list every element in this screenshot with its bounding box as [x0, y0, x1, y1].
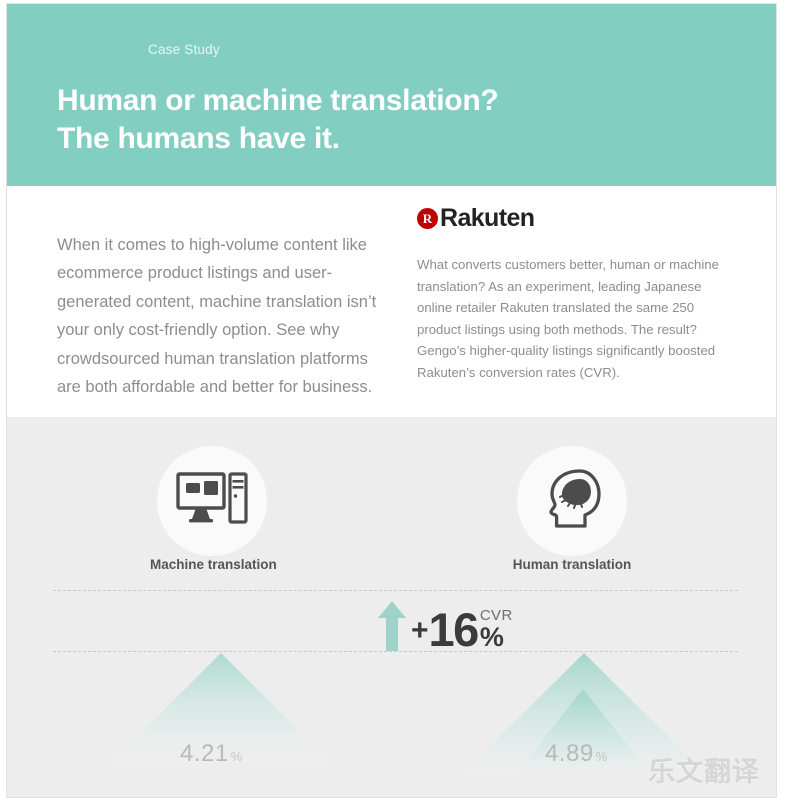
arrow-up-icon: [377, 601, 407, 651]
intro-section: When it comes to high-volume content lik…: [7, 186, 776, 417]
machine-value-label: 4.21%: [180, 740, 243, 768]
rakuten-logo: R Rakuten: [417, 198, 737, 238]
human-value-label: 4.89%: [545, 740, 608, 768]
rakuten-mark-icon: R: [417, 208, 438, 229]
intro-lede: When it comes to high-volume content lik…: [57, 231, 377, 402]
desktop-computer-icon: [176, 471, 248, 532]
infographic-canvas: Case Study Human or machine translation?…: [7, 4, 776, 797]
watermark-text: 乐文翻译: [648, 750, 760, 789]
rakuten-wordmark: Rakuten: [440, 204, 534, 233]
delta-unit-stack: CVR %: [480, 608, 513, 651]
machine-caption: Machine translation: [150, 557, 274, 572]
cvr-delta-callout: + 16 CVR %: [377, 595, 513, 651]
comparison-chart: Machine translation Human translation: [7, 417, 776, 797]
head-brain-icon: [539, 469, 605, 534]
gridline-top: [53, 590, 738, 591]
human-caption: Human translation: [510, 557, 634, 572]
machine-value: 4.21: [180, 740, 229, 767]
gridline-bottom: [53, 651, 738, 652]
delta-sign: +: [411, 616, 429, 651]
delta-value: 16: [429, 608, 478, 651]
page-title: Human or machine translation? The humans…: [57, 82, 498, 158]
intro-right-column: R Rakuten What converts customers better…: [417, 198, 737, 396]
human-value-unit: %: [596, 749, 608, 764]
percent-symbol: %: [480, 624, 504, 650]
human-icon-badge: [517, 446, 627, 556]
intro-left-column: When it comes to high-volume content lik…: [57, 214, 377, 418]
human-value: 4.89: [545, 740, 594, 767]
machine-icon-badge: [157, 446, 267, 556]
screenshot-root: Case Study Human or machine translation?…: [0, 0, 787, 800]
header-band: Case Study Human or machine translation?…: [7, 4, 776, 186]
kicker-label: Case Study: [148, 42, 220, 57]
case-study-body: What converts customers better, human or…: [417, 254, 737, 383]
machine-value-unit: %: [231, 749, 243, 764]
